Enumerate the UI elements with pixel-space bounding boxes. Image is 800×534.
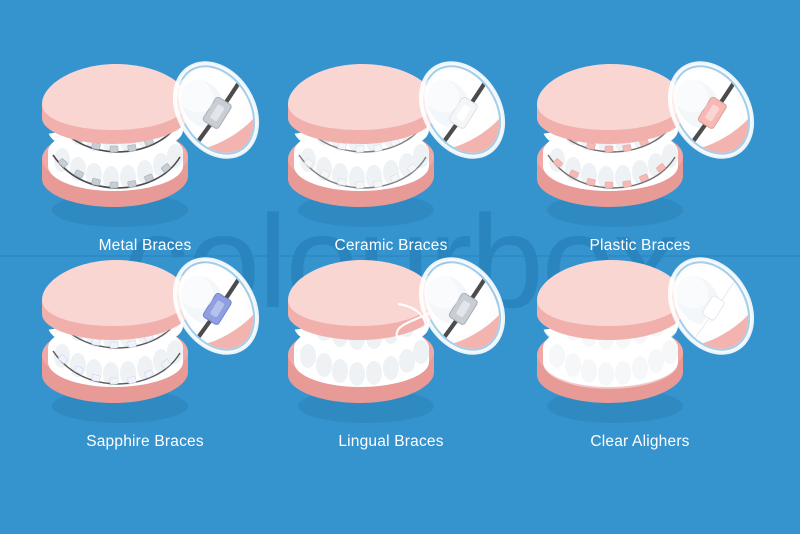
braces-cell-lingual-braces: Lingual Braces	[266, 248, 516, 478]
magnifier-bubble	[663, 52, 759, 168]
magnifier-bubble	[168, 52, 264, 168]
illustration-canvas: colourbox	[0, 0, 800, 534]
braces-cell-clear-alighers: Clear Alighers	[515, 248, 765, 478]
cell-label: Clear Alighers	[515, 433, 765, 451]
cell-label: Lingual Braces	[266, 433, 516, 451]
magnifier-bubble	[414, 52, 510, 168]
braces-cell-sapphire-braces: Sapphire Braces	[20, 248, 270, 478]
magnifier-bubble	[663, 248, 759, 364]
cell-label: Sapphire Braces	[20, 433, 270, 451]
magnifier-bubble	[168, 248, 264, 364]
magnifier-bubble	[414, 248, 510, 364]
